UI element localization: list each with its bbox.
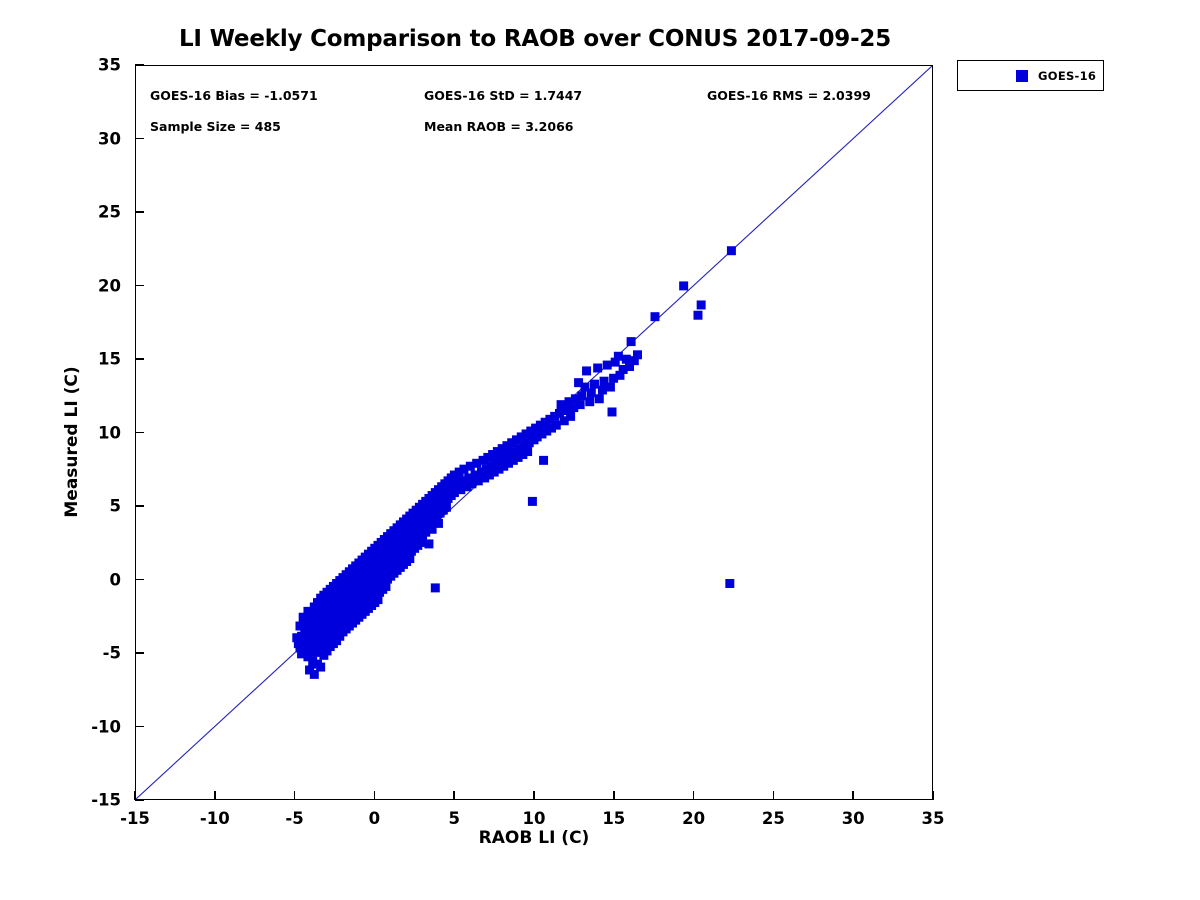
y-tick-mark xyxy=(135,432,144,434)
scatter-point xyxy=(593,364,602,373)
scatter-point xyxy=(539,456,548,465)
x-tick-mark xyxy=(294,791,296,800)
plot-area[interactable] xyxy=(135,65,933,800)
x-tick-label: 0 xyxy=(369,809,380,828)
y-tick-label: 35 xyxy=(0,56,121,75)
y-tick-mark xyxy=(135,505,144,507)
y-tick-mark xyxy=(135,64,144,66)
scatter-point xyxy=(582,366,591,375)
x-tick-label: 35 xyxy=(922,809,945,828)
y-tick-mark xyxy=(135,579,144,581)
scatter-point xyxy=(608,407,617,416)
x-tick-label: -5 xyxy=(285,809,303,828)
stat-bias: GOES-16 Bias = -1.0571 xyxy=(150,88,318,103)
x-axis-title: RAOB LI (C) xyxy=(135,828,933,848)
scatter-point xyxy=(316,663,325,672)
x-tick-mark xyxy=(533,791,535,800)
scatter-point xyxy=(603,361,612,370)
scatter-point xyxy=(528,497,537,506)
legend[interactable]: GOES-16 xyxy=(957,60,1104,91)
y-tick-mark xyxy=(135,358,144,360)
y-tick-label: -10 xyxy=(0,717,121,736)
scatter-point xyxy=(606,383,615,392)
y-tick-mark xyxy=(135,138,144,140)
scatter-point xyxy=(431,583,440,592)
x-tick-mark xyxy=(214,791,216,800)
figure-canvas: LI Weekly Comparison to RAOB over CONUS … xyxy=(0,0,1200,900)
x-tick-mark xyxy=(374,791,376,800)
y-tick-mark xyxy=(135,799,144,801)
scatter-point xyxy=(523,447,532,456)
x-tick-label: -15 xyxy=(120,809,150,828)
x-tick-label: -10 xyxy=(200,809,230,828)
scatter-point xyxy=(552,421,561,430)
y-tick-label: 15 xyxy=(0,350,121,369)
x-tick-mark xyxy=(932,791,934,800)
x-tick-label: 15 xyxy=(602,809,625,828)
y-tick-mark xyxy=(135,211,144,213)
x-tick-mark xyxy=(134,791,136,800)
stat-rms: GOES-16 RMS = 2.0399 xyxy=(707,88,871,103)
scatter-point xyxy=(566,412,575,421)
y-tick-mark xyxy=(135,652,144,654)
x-tick-mark xyxy=(613,791,615,800)
scatter-point xyxy=(434,519,443,528)
legend-label: GOES-16 xyxy=(1038,69,1096,83)
y-tick-mark xyxy=(135,285,144,287)
x-tick-label: 25 xyxy=(762,809,785,828)
scatter-point xyxy=(627,337,636,346)
y-tick-label: -5 xyxy=(0,644,121,663)
page-title: LI Weekly Comparison to RAOB over CONUS … xyxy=(135,26,935,52)
scatter-series xyxy=(292,246,736,679)
x-tick-mark xyxy=(773,791,775,800)
y-tick-label: 0 xyxy=(0,570,121,589)
scatter-point xyxy=(725,579,734,588)
scatter-point xyxy=(577,391,586,400)
scatter-plot-svg xyxy=(136,66,932,799)
y-axis-title: Measured LI (C) xyxy=(62,342,82,542)
scatter-point xyxy=(697,300,706,309)
x-tick-mark xyxy=(453,791,455,800)
scatter-point xyxy=(424,539,433,548)
scatter-point xyxy=(595,394,604,403)
legend-marker-icon xyxy=(1016,70,1028,82)
stat-sample-size: Sample Size = 485 xyxy=(150,119,281,134)
y-tick-label: 30 xyxy=(0,129,121,148)
y-tick-label: 10 xyxy=(0,423,121,442)
x-tick-mark xyxy=(693,791,695,800)
scatter-point xyxy=(693,311,702,320)
scatter-point xyxy=(598,385,607,394)
scatter-point xyxy=(587,388,596,397)
y-tick-label: 20 xyxy=(0,276,121,295)
x-tick-label: 5 xyxy=(448,809,459,828)
x-tick-label: 30 xyxy=(842,809,865,828)
stat-std: GOES-16 StD = 1.7447 xyxy=(424,88,582,103)
scatter-point xyxy=(614,352,623,361)
y-tick-mark xyxy=(135,726,144,728)
y-tick-label: 25 xyxy=(0,203,121,222)
scatter-point xyxy=(651,312,660,321)
scatter-point xyxy=(442,503,451,512)
y-tick-label: -15 xyxy=(0,791,121,810)
y-tick-label: 5 xyxy=(0,497,121,516)
x-tick-mark xyxy=(852,791,854,800)
scatter-point xyxy=(633,350,642,359)
scatter-point xyxy=(585,397,594,406)
stat-mean-raob: Mean RAOB = 3.2066 xyxy=(424,119,573,134)
x-tick-label: 10 xyxy=(523,809,546,828)
scatter-point xyxy=(590,380,599,389)
x-tick-label: 20 xyxy=(682,809,705,828)
scatter-point xyxy=(679,281,688,290)
scatter-point xyxy=(727,246,736,255)
scatter-point xyxy=(576,400,585,409)
